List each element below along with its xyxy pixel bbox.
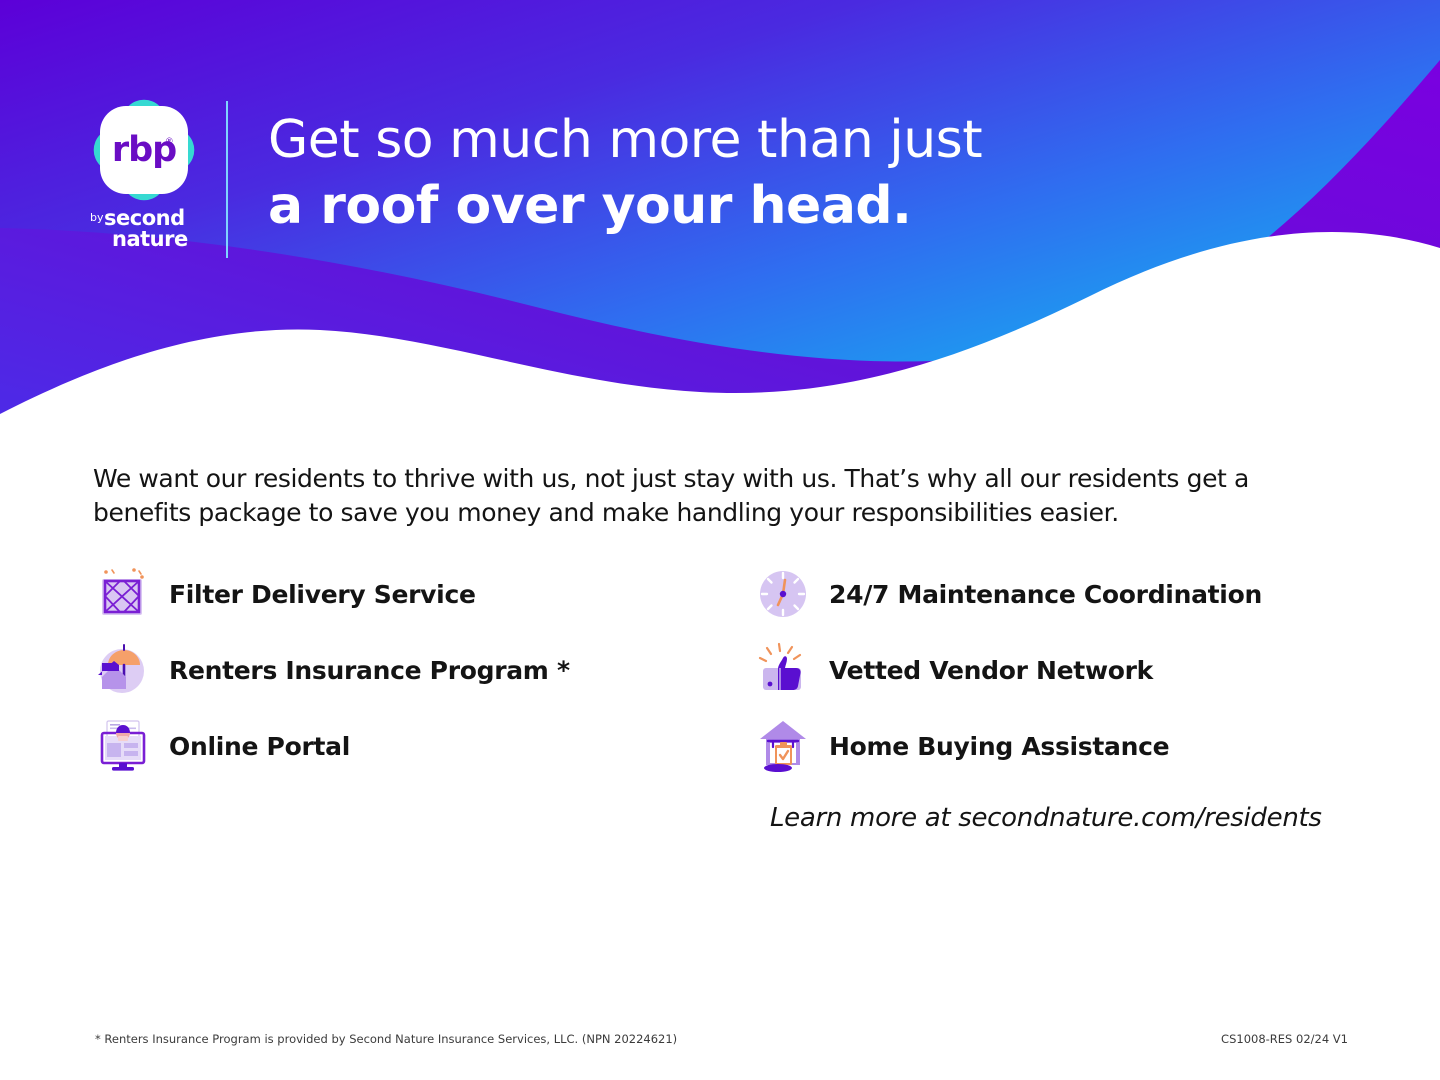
benefit-online-portal: Online Portal	[93, 708, 713, 784]
headline-line-2: a roof over your head.	[268, 173, 982, 239]
hero-banner: rbp ® by second nature Get so much more …	[0, 0, 1440, 440]
house-checklist-icon	[753, 716, 813, 776]
monitor-portal-icon	[93, 716, 153, 776]
benefit-label: 24/7 Maintenance Coordination	[829, 580, 1262, 609]
footer-doc-code: CS1008-RES 02/24 V1	[1221, 1032, 1348, 1046]
benefit-label: Vetted Vendor Network	[829, 656, 1153, 685]
intro-paragraph: We want our residents to thrive with us,…	[93, 462, 1323, 530]
logo-second-nature-line2: nature	[104, 229, 188, 250]
flyer-page: rbp ® by second nature Get so much more …	[0, 0, 1440, 1080]
benefit-label: Filter Delivery Service	[169, 580, 476, 609]
thumbs-up-icon	[753, 640, 813, 700]
benefit-maintenance-coordination: 24/7 Maintenance Coordination	[753, 556, 1373, 632]
benefit-filter-delivery-service: Filter Delivery Service	[93, 556, 713, 632]
benefit-label: Online Portal	[169, 732, 350, 761]
logo-byline-prefix: by	[90, 212, 104, 223]
umbrella-house-icon	[93, 640, 153, 700]
logo-registered-mark: ®	[166, 136, 173, 146]
learn-more-text: Learn more at secondnature.com/residents	[770, 803, 1322, 833]
benefit-home-buying-assistance: Home Buying Assistance	[753, 708, 1373, 784]
benefit-renters-insurance-program: Renters Insurance Program *	[93, 632, 713, 708]
benefit-vetted-vendor-network: Vetted Vendor Network	[753, 632, 1373, 708]
hero-headline: Get so much more than just a roof over y…	[268, 107, 982, 239]
benefits-column-right: 24/7 Maintenance Coordination	[753, 556, 1373, 784]
benefits-column-left: Filter Delivery Service	[93, 556, 713, 784]
clock-icon	[753, 564, 813, 624]
benefit-label: Home Buying Assistance	[829, 732, 1169, 761]
hero-divider	[226, 101, 228, 258]
footer-disclaimer: * Renters Insurance Program is provided …	[95, 1032, 677, 1046]
benefit-label: Renters Insurance Program *	[169, 656, 570, 685]
air-filter-icon	[93, 564, 153, 624]
logo-second-nature-text: second nature	[104, 208, 188, 250]
logo-rbp-text: rbp	[88, 100, 200, 200]
headline-line-1: Get so much more than just	[268, 107, 982, 173]
brand-logo: rbp ® by second nature	[88, 100, 206, 255]
rbp-logo-mark: rbp ®	[88, 100, 200, 208]
